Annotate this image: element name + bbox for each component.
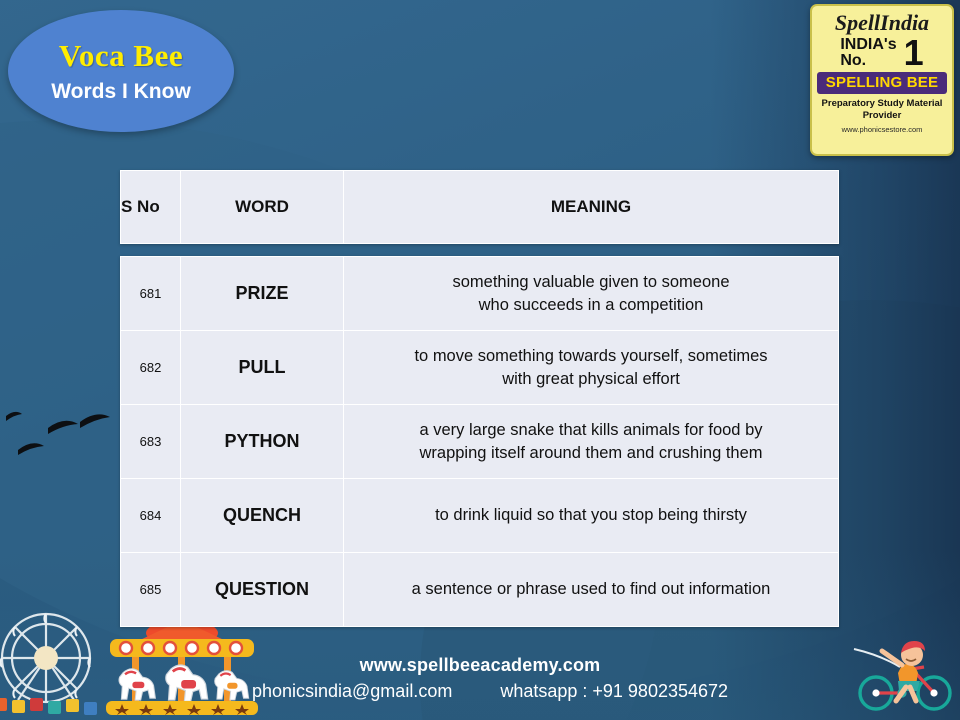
row-meaning-line1: to move something towards yourself, some…	[344, 345, 838, 367]
table-row[interactable]: 683 PYTHON a very large snake that kills…	[121, 405, 839, 479]
table-row[interactable]: 681 PRIZE something valuable given to so…	[121, 257, 839, 331]
row-meaning-line1: something valuable given to someone	[344, 271, 838, 293]
row-sno: 685	[121, 553, 181, 627]
footer-contact-row: phonicsindia@gmail.com whatsapp : +91 98…	[0, 678, 960, 704]
spellindia-description: Preparatory Study Material Provider	[822, 98, 943, 122]
voca-bee-subtitle: Words I Know	[51, 81, 191, 102]
footer-email[interactable]: phonicsindia@gmail.com	[252, 678, 452, 704]
footer-website[interactable]: www.spellbeeacademy.com	[0, 652, 960, 678]
row-word: PYTHON	[181, 405, 344, 479]
vocabulary-table-header: S No WORD MEANING	[120, 170, 839, 244]
row-word: QUENCH	[181, 479, 344, 553]
row-meaning-line1: to drink liquid so that you stop being t…	[344, 504, 838, 526]
row-word: QUESTION	[181, 553, 344, 627]
spellindia-url: www.phonicsestore.com	[842, 125, 923, 134]
row-sno: 683	[121, 405, 181, 479]
spellindia-description-line2: Provider	[822, 110, 943, 122]
table-row[interactable]: 682 PULL to move something towards yours…	[121, 331, 839, 405]
spellindia-brand: SpellIndia	[835, 11, 929, 34]
column-header-meaning: MEANING	[344, 171, 839, 244]
table-row[interactable]: 685 QUESTION a sentence or phrase used t…	[121, 553, 839, 627]
row-meaning-line1: a sentence or phrase used to find out in…	[344, 578, 838, 600]
spellindia-rank-number: 1	[904, 36, 924, 70]
row-meaning-line1: a very large snake that kills animals fo…	[344, 419, 838, 441]
row-meaning-line2: wrapping itself around them and crushing…	[344, 442, 838, 464]
spellindia-description-line1: Preparatory Study Material	[822, 98, 943, 110]
row-word: PRIZE	[181, 257, 344, 331]
voca-bee-title: Voca Bee	[59, 40, 183, 71]
row-meaning: a very large snake that kills animals fo…	[344, 405, 839, 479]
table-row[interactable]: 684 QUENCH to drink liquid so that you s…	[121, 479, 839, 553]
row-meaning-line2: with great physical effort	[344, 368, 838, 390]
row-meaning: to drink liquid so that you stop being t…	[344, 479, 839, 553]
table-header-row: S No WORD MEANING	[121, 171, 839, 244]
column-header-word: WORD	[181, 171, 344, 244]
row-sno: 684	[121, 479, 181, 553]
spellindia-rank-row: INDIA's No. 1	[812, 36, 952, 70]
row-meaning: a sentence or phrase used to find out in…	[344, 553, 839, 627]
column-header-sno: S No	[121, 171, 181, 244]
footer: www.spellbeeacademy.com phonicsindia@gma…	[0, 652, 960, 704]
vocabulary-table-body: 681 PRIZE something valuable given to so…	[120, 256, 839, 627]
spellindia-logo-card: SpellIndia INDIA's No. 1 SPELLING BEE Pr…	[810, 4, 954, 156]
footer-whatsapp[interactable]: whatsapp : +91 9802354672	[500, 678, 728, 704]
slide-canvas: Voca Bee Words I Know SpellIndia INDIA's…	[0, 0, 960, 720]
row-sno: 681	[121, 257, 181, 331]
voca-bee-badge: Voca Bee Words I Know	[8, 10, 234, 132]
row-sno: 682	[121, 331, 181, 405]
spellindia-bee-bar: SPELLING BEE	[817, 72, 947, 94]
row-meaning: something valuable given to someone who …	[344, 257, 839, 331]
spellindia-rank-text: INDIA's No.	[840, 37, 896, 70]
spellindia-rank-line2: No.	[840, 53, 896, 69]
row-word: PULL	[181, 331, 344, 405]
row-meaning: to move something towards yourself, some…	[344, 331, 839, 405]
spellindia-rank-line1: INDIA's	[840, 37, 896, 53]
birds-icon	[4, 402, 114, 467]
row-meaning-line2: who succeeds in a competition	[344, 294, 838, 316]
